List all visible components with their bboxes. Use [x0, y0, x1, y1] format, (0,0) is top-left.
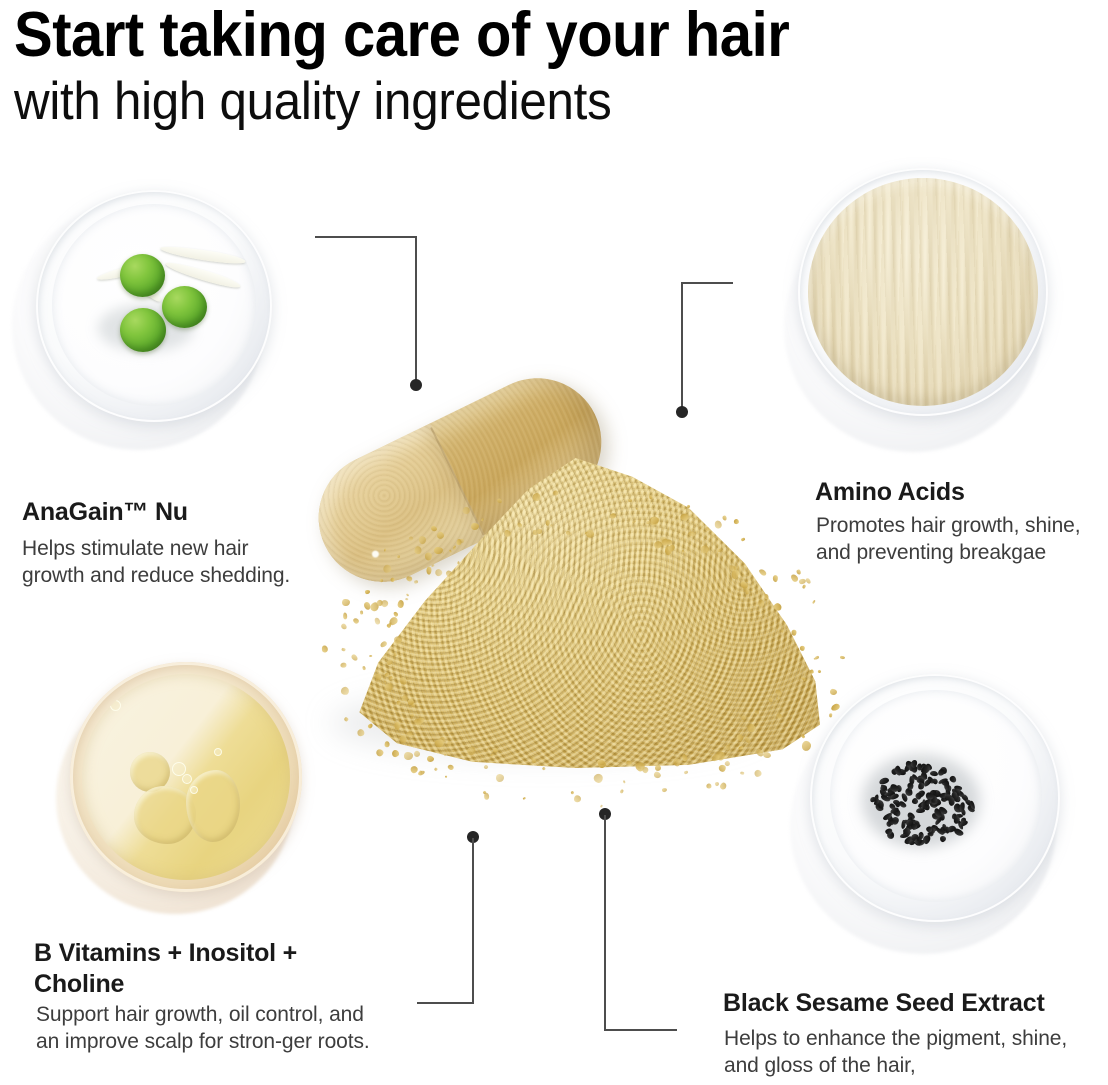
powder-crumb [447, 741, 452, 747]
powder-crumb [815, 655, 820, 659]
powder-crumb [376, 673, 382, 681]
sesame-seed-icon [915, 792, 922, 800]
powder-crumb [424, 552, 431, 560]
powder-crumb [682, 549, 686, 553]
powder-crumb [800, 646, 805, 651]
powder-crumb [363, 666, 366, 670]
callout-body-bvitamins: Support hair growth, oil control, and an… [36, 1001, 381, 1055]
callout-title-bvitamins: B Vitamins + Inositol + Choline [34, 938, 364, 1000]
powder-crumb [398, 676, 408, 686]
callout-body-amino: Promotes hair growth, shine, and prevent… [816, 512, 1108, 566]
powder-crumb [497, 498, 504, 505]
powder-crumb [486, 748, 489, 750]
powder-crumb [434, 547, 443, 554]
powder-crumb [380, 640, 389, 648]
powder-crumb [622, 780, 625, 783]
powder-crumb [503, 529, 512, 538]
connector-endpoint-dot [467, 831, 479, 843]
powder-crumb [719, 765, 726, 772]
pea-sprout-icon [120, 308, 166, 352]
powder-crumb [400, 736, 407, 744]
powder-crumb [739, 714, 746, 721]
powder-crumb [390, 577, 395, 582]
powder-crumb [394, 722, 400, 730]
sprout-petri-dish-image [12, 186, 280, 458]
powder-crumb [650, 495, 653, 500]
sesame-seed-icon [948, 775, 957, 784]
powder-crumb [523, 797, 526, 800]
powder-crumb [367, 723, 373, 729]
powder-crumb [418, 535, 427, 545]
powder-fill [808, 178, 1038, 406]
connector-endpoint-dot [599, 808, 611, 820]
powder-crumb [768, 696, 774, 703]
powder-crumb [384, 549, 386, 552]
powder-crumb [405, 598, 409, 601]
powder-crumb [360, 611, 364, 615]
powder-crumb [773, 602, 783, 612]
powder-texture [808, 178, 1038, 406]
powder-crumb [636, 508, 639, 511]
gel-fill [82, 674, 290, 880]
connector-segment-vertical [472, 838, 474, 1003]
powder-crumb [830, 703, 841, 713]
powder-crumb [687, 531, 695, 538]
infographic-page: Start taking care of your hair with high… [0, 0, 1108, 1085]
powder-crumb [801, 740, 812, 751]
pea-sprout-icon [120, 254, 165, 297]
gel-bubble-icon [186, 770, 240, 842]
powder-crumb [775, 711, 783, 719]
powder-crumb [830, 689, 837, 696]
powder-crumb [704, 527, 709, 532]
sesame-seed-icon [959, 820, 969, 828]
powder-crumb [609, 512, 617, 520]
powder-crumb [625, 761, 631, 766]
powder-crumb [406, 730, 413, 737]
powder-crumb [679, 513, 688, 521]
powder-crumb [414, 750, 422, 758]
powder-crumb [791, 630, 796, 636]
powder-crumb [796, 569, 802, 575]
powder-crumb [739, 771, 744, 774]
powder-crumb [374, 748, 384, 757]
powder-crumb [574, 795, 582, 803]
powder-crumb [801, 734, 805, 739]
connector-endpoint-dot [410, 379, 422, 391]
powder-crumb [389, 675, 394, 680]
powder-crumb [340, 687, 349, 696]
powder-crumb [673, 758, 681, 767]
powder-crumb [426, 756, 434, 763]
callout-title-amino: Amino Acids [815, 477, 1105, 508]
powder-crumb [444, 753, 447, 756]
powder-crumb [414, 580, 418, 584]
powder-crumb [737, 746, 743, 751]
powder-crumb [352, 617, 360, 625]
capsule-and-powder-product-image [300, 398, 840, 798]
powder-crumb [684, 770, 688, 774]
connector-segment-vertical [415, 236, 417, 386]
powder-crumb [781, 630, 785, 634]
powder-crumb [681, 754, 688, 763]
powder-crumb [404, 752, 413, 760]
powder-crumb [600, 804, 604, 808]
page-title: Start taking care of your hair [14, 2, 1008, 68]
powder-crumb [565, 530, 571, 536]
powder-crumb [653, 771, 662, 779]
powder-crumb [427, 566, 432, 574]
gel-bubble-icon [110, 700, 121, 711]
powder-crumb [495, 774, 504, 782]
powder-crumb [594, 773, 605, 784]
powder-crumb [541, 766, 546, 770]
powder-crumb [627, 499, 632, 503]
powder-crumb [442, 552, 444, 554]
powder-crumb [384, 742, 389, 748]
page-subtitle: with high quality ingredients [14, 72, 1018, 132]
powder-crumb [340, 663, 347, 668]
powder-crumb [705, 784, 711, 790]
powder-crumb [771, 669, 774, 673]
callout-body-anagain: Helps stimulate new hair growth and redu… [22, 535, 312, 589]
connector-segment-horizontal [315, 236, 417, 238]
powder-crumb [765, 594, 769, 599]
page-header: Start taking care of your hair with high… [14, 2, 1094, 132]
powder-crumb [449, 549, 452, 553]
powder-crumb [457, 561, 460, 564]
gel-bubble-icon [182, 774, 192, 784]
connector-segment-horizontal [417, 1002, 474, 1004]
powder-crumb [410, 714, 414, 718]
powder-crumb [733, 518, 740, 525]
callout-title-anagain: AnaGain™ Nu [22, 497, 362, 528]
powder-crumb [378, 708, 383, 713]
gel-bubble-icon [214, 748, 222, 756]
powder-crumb [408, 535, 414, 541]
powder-crumb [445, 775, 448, 778]
powder-crumb [773, 576, 778, 583]
powder-crumb [436, 530, 446, 540]
connector-segment-vertical [604, 815, 606, 1030]
powder-crumb [414, 546, 421, 554]
connector-segment-horizontal [604, 1029, 677, 1031]
powder-crumb [356, 728, 366, 738]
powder-crumb [553, 490, 560, 497]
sesame-seed-icon [940, 835, 948, 843]
powder-crumb [721, 515, 727, 521]
powder-crumb [390, 748, 400, 758]
powder-crumb [817, 670, 821, 674]
powder-crumb [701, 545, 709, 553]
powder-crumb [444, 570, 452, 578]
powder-crumb [433, 568, 443, 578]
powder-crumb [717, 548, 722, 552]
powder-crumb [386, 659, 393, 666]
powder-crumb [343, 613, 348, 620]
powder-crumb [397, 555, 401, 559]
callout-title-sesame: Black Sesame Seed Extract [723, 988, 1108, 1019]
powder-crumb [731, 726, 733, 728]
gel-petri-dish-image [56, 662, 308, 918]
powder-crumb [755, 710, 759, 714]
powder-crumb [397, 701, 401, 705]
powder-crumb [731, 570, 740, 580]
powder-crumb [746, 589, 750, 594]
sesame-seed-icon [908, 839, 915, 846]
sesame-seed-icon [916, 808, 926, 814]
powder-crumb [369, 655, 372, 657]
powder-crumb [744, 736, 751, 744]
powder-crumb [461, 506, 470, 515]
sesame-seed-icon [907, 783, 914, 790]
powder-crumb [379, 578, 383, 582]
powder-crumb [447, 764, 454, 771]
connector-segment-vertical [681, 282, 683, 413]
powder-crumb [342, 599, 350, 606]
powder-crumb [453, 547, 456, 550]
powder-crumb [351, 653, 359, 661]
powder-crumb [802, 584, 807, 589]
powder-crumb [686, 505, 690, 509]
powder-crumb [397, 600, 404, 609]
powder-crumb [758, 568, 767, 577]
powder-crumb [434, 739, 444, 749]
powder-crumb [466, 745, 478, 757]
powder-crumb [394, 653, 397, 658]
powder-crumb [483, 764, 489, 770]
powder-crumb [430, 525, 437, 532]
powder-crumb [392, 634, 403, 645]
powder-crumb [382, 563, 393, 574]
powder-crumb [662, 787, 668, 792]
powder-crumb [490, 754, 493, 757]
sesame-seed-icon [894, 766, 902, 777]
powder-pile [350, 458, 820, 768]
powder-crumb [405, 575, 413, 582]
powder-crumb [745, 723, 756, 734]
powder-crumb [655, 764, 663, 772]
powder-crumb [517, 521, 523, 528]
powder-crumb [829, 713, 832, 717]
powder-crumb [736, 733, 745, 742]
powder-crumb [619, 790, 623, 795]
powder-crumbs [350, 458, 820, 768]
powder-crumb [719, 782, 728, 791]
powder-crumb [341, 648, 345, 652]
powder-crumb [380, 599, 390, 609]
powder-crumb [758, 599, 764, 606]
powder-crumb [365, 590, 370, 594]
powder-crumb [753, 769, 763, 779]
sesame-seed-icon [879, 776, 890, 785]
powder-crumb [714, 519, 722, 528]
pea-sprout-icon [162, 286, 207, 328]
powder-crumb [809, 670, 814, 675]
powder-crumb [374, 617, 381, 625]
powder-crumb [550, 524, 553, 527]
powder-crumb [812, 600, 816, 604]
powder-crumb [532, 492, 541, 501]
powder-crumb [405, 593, 409, 597]
powder-crumb [776, 697, 779, 699]
powder-crumb [775, 688, 784, 697]
powder-crumb [321, 645, 328, 653]
powder-crumb [570, 791, 574, 795]
black-sesame-seed-pile [868, 756, 976, 852]
connector-segment-horizontal [681, 282, 733, 284]
powder-crumb [803, 679, 806, 682]
callout-body-sesame: Helps to enhance the pigment, shine, and… [724, 1025, 1104, 1079]
powder-crumb [471, 523, 479, 530]
powder-crumb [724, 744, 730, 750]
powder-crumb [340, 622, 348, 630]
sesame-seed-icon [946, 827, 950, 834]
powder-crumb [741, 537, 746, 541]
powder-crumb [452, 750, 455, 753]
powder-crumb [632, 520, 636, 524]
powder-crumb [783, 621, 786, 624]
gel-bubble-icon [190, 786, 198, 794]
powder-crumb [532, 529, 538, 535]
powder-crumb [460, 538, 465, 543]
powder-crumb [840, 656, 845, 660]
powder-crumb [481, 519, 484, 522]
powder-crumb [434, 767, 438, 772]
powder-crumb [531, 758, 537, 764]
powder-crumb [432, 565, 435, 568]
